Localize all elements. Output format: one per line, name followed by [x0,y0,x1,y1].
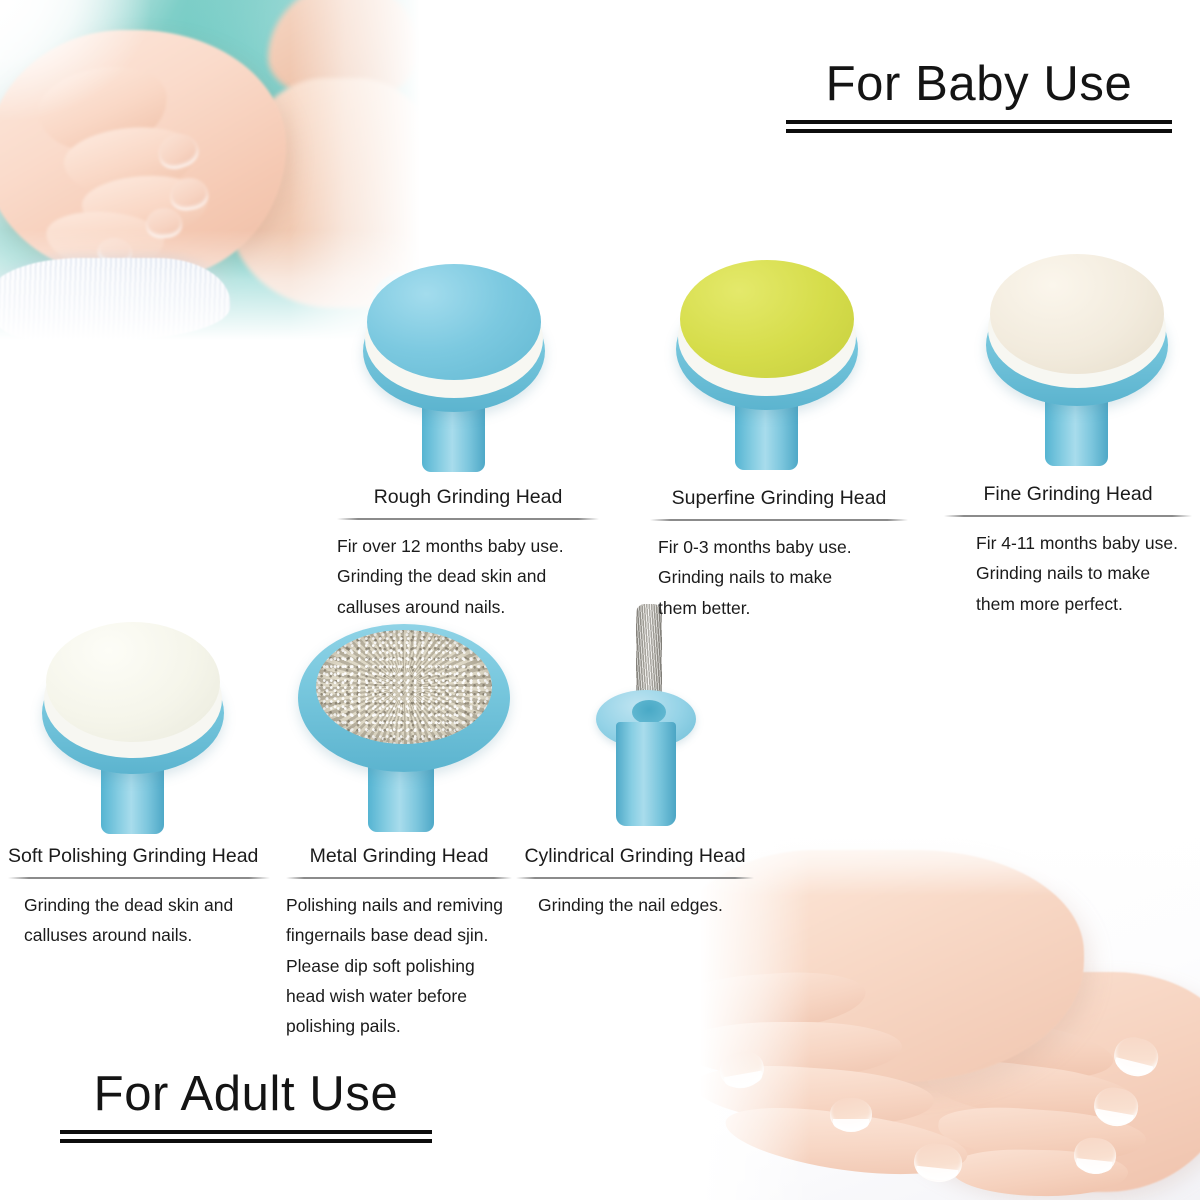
product-image-cylindrical-grinding-head [588,600,703,830]
desc-line: Grinding nails to make [976,558,1192,588]
product-image-superfine-grinding-head [668,248,873,468]
head-body [616,722,676,826]
desc-line: fingernails base dead sjin. [286,920,512,950]
card-title: Cylindrical Grinding Head [516,845,754,868]
card-separator [8,877,270,879]
card-description: Grinding the nail edges. [516,890,754,920]
banner-baby-title: For Baby Use [786,60,1172,109]
collar-hole [632,700,666,724]
desc-line: Grinding the dead skin and [24,890,270,920]
card-separator [516,877,754,879]
desc-line: Fir 4-11 months baby use. [976,528,1192,558]
product-image-metal-grinding-head [292,606,517,830]
desc-line: Grinding the dead skin and [337,561,599,591]
card-separator [944,515,1192,517]
desc-line: Please dip soft polishing [286,951,512,981]
banner-baby-rules [786,120,1172,133]
card-soft-polishing-grinding-head: Soft Polishing Grinding Head Grinding th… [8,845,270,951]
product-image-soft-polishing-grinding-head [34,612,239,832]
card-title: Superfine Grinding Head [650,487,908,510]
card-separator [337,518,599,520]
desc-line: Grinding nails to make [658,562,908,592]
adult-photo-fade-top [700,826,1200,896]
card-separator [650,519,908,521]
desc-line: calluses around nails. [24,920,270,950]
head-disc [990,254,1164,374]
desc-line: head wish water before [286,981,512,1011]
head-disc [46,622,220,742]
banner-adult-title: For Adult Use [60,1070,432,1119]
desc-line: them more perfect. [976,589,1192,619]
rule-line [60,1139,432,1143]
head-disc [680,260,854,378]
desc-line: Fir 0-3 months baby use. [658,532,908,562]
card-description: Grinding the dead skin and calluses arou… [8,890,270,950]
rule-line [786,120,1172,124]
rule-line [786,129,1172,133]
head-disc [316,630,492,744]
desc-line: polishing pails. [286,1011,512,1041]
banner-for-adult-use: For Adult Use [60,1070,432,1143]
card-title: Rough Grinding Head [337,486,599,509]
banner-adult-rules [60,1130,432,1143]
photo-fade-topleft [0,0,150,120]
card-title: Metal Grinding Head [286,845,512,868]
head-disc [367,264,541,380]
desc-line: them better. [658,593,908,623]
card-description: Fir over 12 months baby use. Grinding th… [337,531,599,621]
rule-line [60,1130,432,1134]
card-metal-grinding-head: Metal Grinding Head Polishing nails and … [286,845,512,1041]
card-description: Polishing nails and remiving fingernails… [286,890,512,1040]
card-description: Fir 4-11 months baby use. Grinding nails… [944,528,1192,618]
card-title: Soft Polishing Grinding Head [8,845,270,868]
card-superfine-grinding-head: Superfine Grinding Head Fir 0-3 months b… [650,487,908,623]
product-infographic: For Baby Use For Adult Use [0,0,1200,1200]
adult-hands-photo [700,826,1200,1200]
desc-line: Polishing nails and remiving [286,890,512,920]
card-separator [286,877,512,879]
product-image-rough-grinding-head [355,250,560,470]
desc-line: Fir over 12 months baby use. [337,531,599,561]
banner-for-baby-use: For Baby Use [786,60,1172,133]
desc-line: calluses around nails. [337,592,599,622]
card-fine-grinding-head: Fine Grinding Head Fir 4-11 months baby … [944,483,1192,619]
card-cylindrical-grinding-head: Cylindrical Grinding Head Grinding the n… [516,845,754,920]
card-description: Fir 0-3 months baby use. Grinding nails … [650,532,908,622]
product-image-fine-grinding-head [978,244,1183,464]
card-rough-grinding-head: Rough Grinding Head Fir over 12 months b… [337,486,599,622]
card-title: Fine Grinding Head [944,483,1192,506]
desc-line: Grinding the nail edges. [538,890,754,920]
